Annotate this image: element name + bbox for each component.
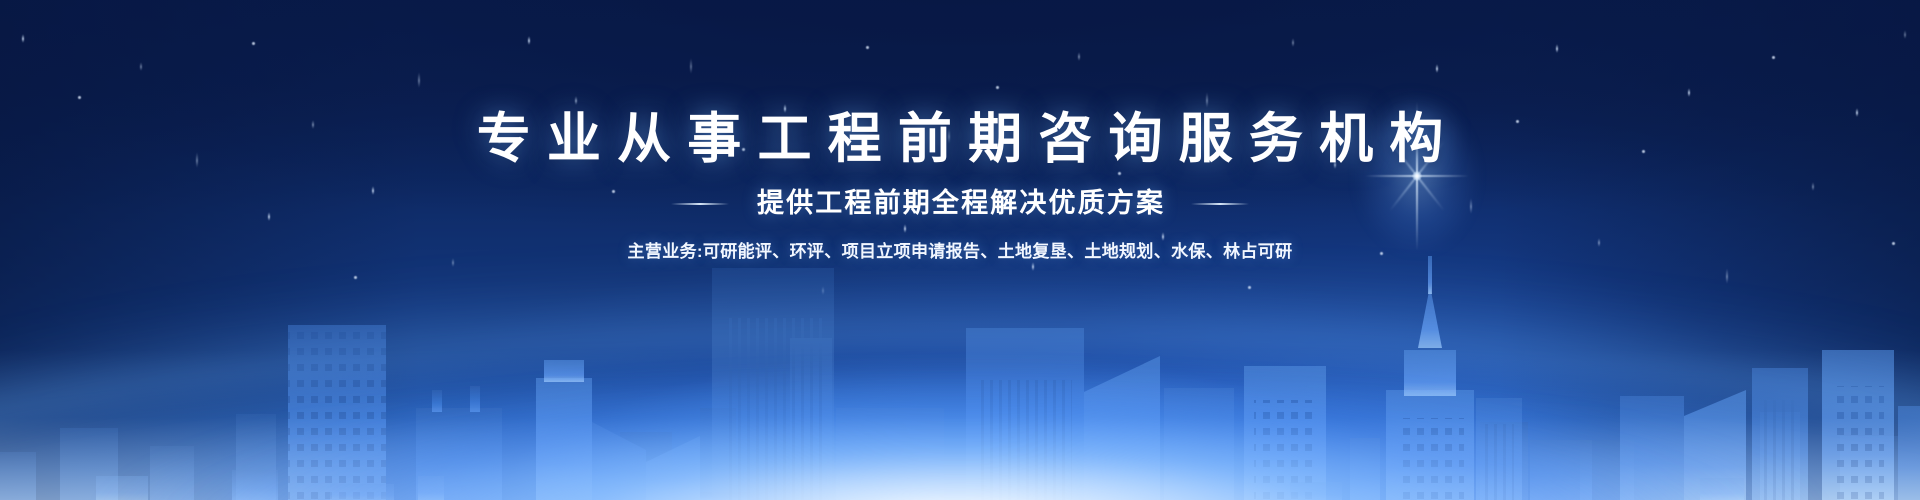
earth-curve-rim xyxy=(0,350,1920,500)
horizon-haze xyxy=(0,350,1920,500)
banner-copy: 专业从事工程前期咨询服务机构 提供工程前期全程解决优质方案 主营业务:可研能评、… xyxy=(0,0,1920,260)
banner-services-line: 主营业务:可研能评、环评、项目立项申请报告、土地复垦、土地规划、水保、林占可研 xyxy=(628,243,1293,260)
banner-subtitle: 提供工程前期全程解决优质方案 xyxy=(755,190,1165,217)
dash-right-icon xyxy=(1191,203,1249,205)
banner-title: 专业从事工程前期咨询服务机构 xyxy=(461,112,1460,166)
earth-curve-glow xyxy=(0,358,1920,500)
hero-banner: 专业从事工程前期咨询服务机构 提供工程前期全程解决优质方案 主营业务:可研能评、… xyxy=(0,0,1920,500)
banner-subtitle-row: 提供工程前期全程解决优质方案 xyxy=(671,190,1249,217)
dash-left-icon xyxy=(671,203,729,205)
